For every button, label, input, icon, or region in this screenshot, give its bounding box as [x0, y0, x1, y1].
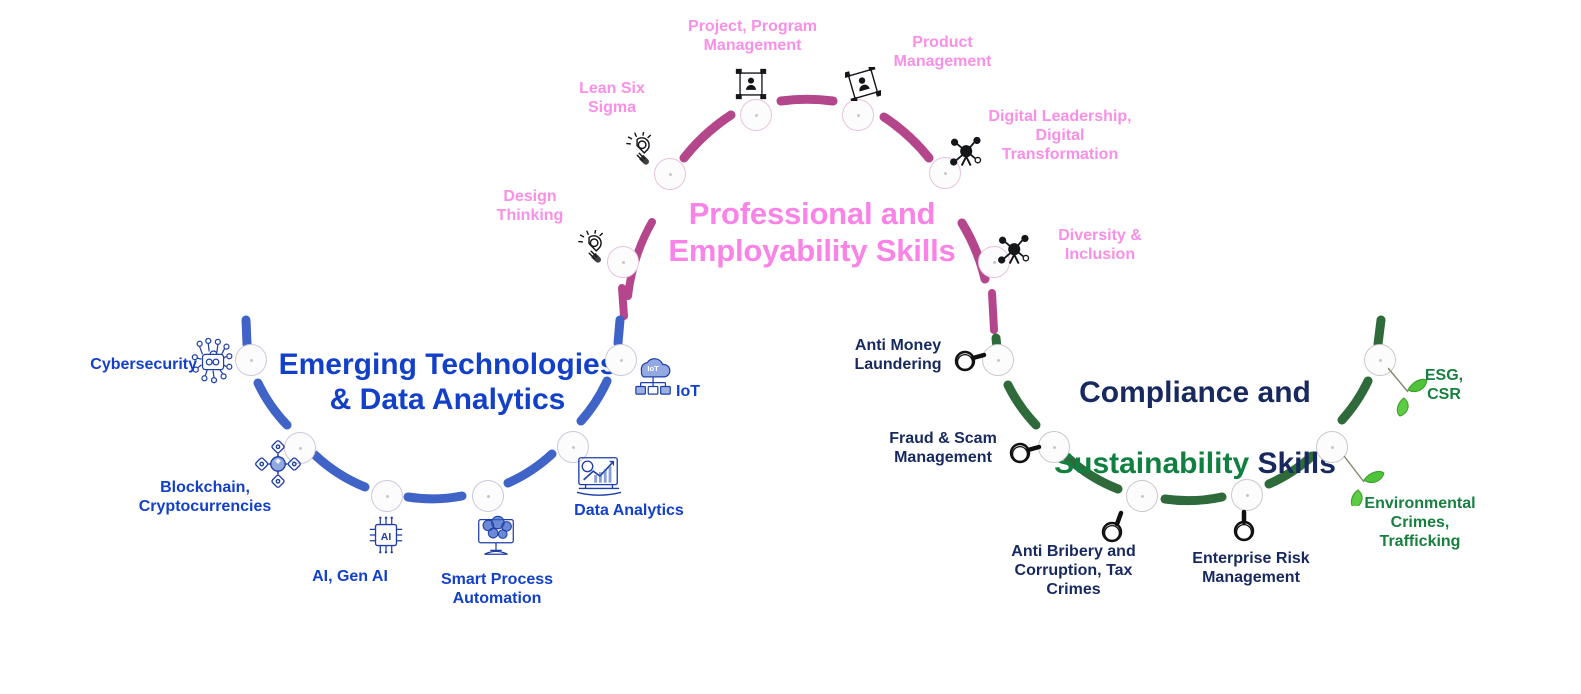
label-project-program-management: Project, Program Management: [665, 17, 840, 55]
arc-professional-left-tail: [622, 288, 624, 316]
cluster-title-professional: Professional and Employability Skills: [662, 196, 962, 269]
node-esg-csr[interactable]: [1364, 344, 1396, 376]
node-diversity-inclusion[interactable]: [978, 246, 1010, 278]
label-diversity-inclusion: Diversity & Inclusion: [1040, 226, 1160, 264]
node-ai-gen-ai[interactable]: [371, 480, 403, 512]
node-environmental-crimes[interactable]: [1316, 431, 1348, 463]
label-ai-gen-ai: AI, Gen AI: [290, 567, 410, 586]
svg-text:IoT: IoT: [647, 364, 659, 373]
iot-cloud-icon: IoT: [632, 354, 676, 396]
cluster-title-compliance-line2: Sustainability Skills: [1050, 446, 1340, 481]
node-project-program-management[interactable]: [740, 99, 772, 131]
node-iot[interactable]: [605, 344, 637, 376]
label-design-thinking: Design Thinking: [475, 187, 585, 225]
cluster-title-compliance: Compliance and Sustainability Skills: [1050, 340, 1340, 517]
label-fraud-scam-management: Fraud & Scam Management: [876, 429, 1010, 467]
label-lean-six-sigma: Lean Six Sigma: [556, 79, 668, 117]
ai-chip-icon: AI: [366, 515, 406, 557]
label-anti-money-laundering: Anti Money Laundering: [838, 336, 958, 374]
node-cybersecurity[interactable]: [235, 344, 267, 376]
cluster-title-compliance-line1: Compliance and: [1050, 375, 1340, 410]
node-fraud-scam-management[interactable]: [1038, 431, 1070, 463]
magnifier-icon: [1008, 440, 1042, 468]
node-digital-leadership[interactable]: [929, 157, 961, 189]
label-smart-process-automation: Smart Process Automation: [417, 570, 577, 608]
label-cybersecurity: Cybersecurity: [72, 355, 197, 374]
arc-connector-layer: [0, 0, 1581, 694]
label-iot: IoT: [676, 382, 736, 401]
node-anti-bribery-corruption[interactable]: [1126, 480, 1158, 512]
label-product-management: Product Management: [865, 33, 1020, 71]
node-data-analytics[interactable]: [557, 431, 589, 463]
label-enterprise-risk-management: Enterprise Risk Management: [1181, 549, 1321, 587]
cluster-title-emerging-tech: Emerging Technologies & Data Analytics: [275, 347, 620, 418]
cluster-title-compliance-sustainability: Sustainability: [1054, 447, 1249, 480]
node-product-management[interactable]: [842, 99, 874, 131]
diagram-canvas: Professional and Employability Skills Le…: [0, 0, 1581, 694]
automation-gears-monitor-icon: [471, 512, 521, 560]
label-blockchain: Blockchain, Cryptocurrencies: [125, 478, 285, 516]
node-smart-process-automation[interactable]: [472, 480, 504, 512]
node-design-thinking[interactable]: [607, 246, 639, 278]
cyber-lock-chip-icon: [191, 338, 237, 386]
node-enterprise-risk-management[interactable]: [1231, 479, 1263, 511]
label-environmental-crimes: Environmental Crimes, Trafficking: [1350, 494, 1490, 552]
svg-text:AI: AI: [381, 532, 392, 543]
label-digital-leadership: Digital Leadership, Digital Transformati…: [975, 107, 1145, 165]
team-board-icon: [845, 67, 881, 101]
label-anti-bribery-corruption: Anti Bribery and Corruption, Tax Crimes: [996, 542, 1151, 600]
node-lean-six-sigma[interactable]: [654, 158, 686, 190]
node-anti-money-laundering[interactable]: [982, 344, 1014, 376]
team-board-icon: [734, 68, 768, 100]
node-blockchain[interactable]: [284, 432, 316, 464]
label-esg-csr: ESG, CSR: [1405, 366, 1483, 404]
lightbulb-idea-icon: [626, 132, 660, 166]
label-data-analytics: Data Analytics: [556, 501, 702, 520]
